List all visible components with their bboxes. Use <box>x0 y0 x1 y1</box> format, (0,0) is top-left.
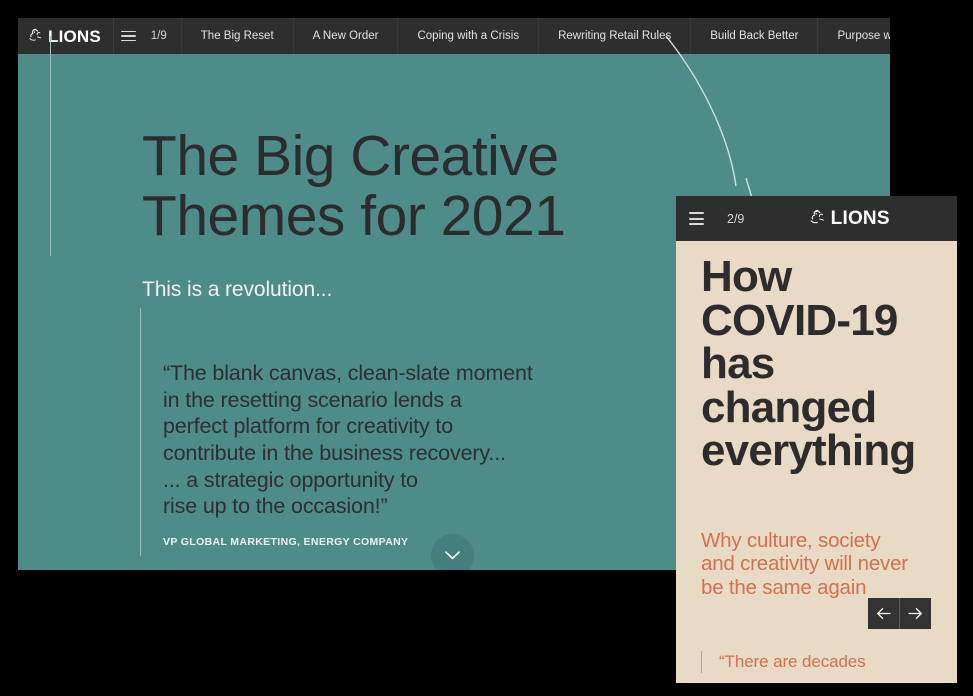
lions-wordmark: LIONS <box>48 28 101 45</box>
decorative-vertical-line-quote <box>140 308 141 556</box>
nav-item-rewriting-retail-rules[interactable]: Rewriting Retail Rules <box>538 18 690 54</box>
decorative-vertical-line-left <box>50 36 51 256</box>
lions-wordmark: LIONS <box>831 209 890 228</box>
mobile-slide-panel: 2/9 LIONS How COVID-19 has changed every… <box>676 196 957 683</box>
nav-item-a-new-order[interactable]: A New Order <box>293 18 398 54</box>
mobile-subheading: Why culture, society and creativity will… <box>701 529 941 599</box>
scroll-down-button[interactable] <box>431 534 474 570</box>
mobile-pull-quote: “There are decades <box>719 651 957 673</box>
hamburger-menu-icon <box>121 28 136 45</box>
mobile-navigation-bar: 2/9 LIONS <box>676 196 957 241</box>
lions-logo[interactable]: LIONS <box>18 18 113 54</box>
desktop-pull-quote: “The blank canvas, clean-slate moment in… <box>163 360 583 520</box>
arrow-left-icon <box>876 607 891 620</box>
next-slide-button[interactable] <box>899 598 931 629</box>
chevron-down-icon <box>445 551 460 560</box>
nav-item-the-big-reset[interactable]: The Big Reset <box>181 18 293 54</box>
previous-slide-button[interactable] <box>868 598 899 629</box>
mobile-quote-block: “There are decades <box>701 651 957 673</box>
mobile-pagination-controls <box>868 598 931 629</box>
lion-emblem-icon <box>27 27 44 44</box>
desktop-nav-items: The Big Reset A New Order Coping with a … <box>181 18 890 54</box>
hamburger-menu-button[interactable] <box>114 18 143 54</box>
desktop-quote-attribution: VP GLOBAL MARKETING, ENERGY COMPANY <box>163 536 408 548</box>
desktop-slide-counter: 1/9 <box>143 18 181 54</box>
desktop-subtitle: This is a revolution... <box>142 278 332 302</box>
mobile-slide-counter: 2/9 <box>716 196 762 241</box>
desktop-navigation-bar: LIONS 1/9 The Big Reset A New Order Copi… <box>18 18 890 54</box>
nav-item-purpose-with-integrity[interactable]: Purpose with Integrity <box>817 18 890 54</box>
mobile-lions-logo[interactable]: LIONS <box>762 196 957 241</box>
desktop-page-title: The Big Creative Themes for 2021 <box>142 127 565 247</box>
lion-emblem-icon <box>808 208 827 227</box>
hamburger-menu-icon <box>689 209 704 229</box>
mobile-hamburger-menu-button[interactable] <box>676 196 716 241</box>
mobile-page-title: How COVID-19 has changed everything <box>701 255 941 473</box>
nav-item-coping-with-a-crisis[interactable]: Coping with a Crisis <box>397 18 538 54</box>
arrow-right-icon <box>908 607 923 620</box>
nav-item-build-back-better[interactable]: Build Back Better <box>690 18 817 54</box>
